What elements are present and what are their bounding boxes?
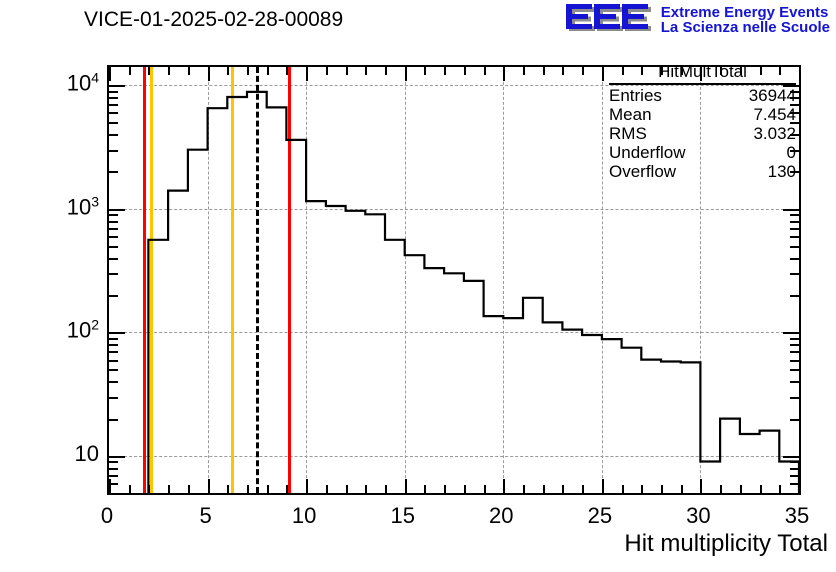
x-tick xyxy=(129,485,131,493)
x-tick-top xyxy=(247,67,249,75)
x-tick xyxy=(306,479,308,493)
x-tick-top xyxy=(444,67,446,75)
x-tick xyxy=(503,479,505,493)
x-tick xyxy=(464,485,466,493)
x-tick xyxy=(523,485,525,493)
y-tick xyxy=(109,85,125,87)
y-tick xyxy=(109,351,118,353)
x-tick xyxy=(484,485,486,493)
stats-value: 0 xyxy=(787,143,796,162)
y-tick xyxy=(109,360,118,362)
x-tick xyxy=(405,479,407,493)
y-tick-right xyxy=(790,381,799,383)
y-tick xyxy=(109,397,118,399)
stats-value: 130 xyxy=(768,162,796,181)
x-tick-top xyxy=(365,67,367,75)
y-tick xyxy=(109,246,118,248)
y-tick-right xyxy=(790,493,799,495)
y-tick-label: 104 xyxy=(0,69,99,96)
y-tick-label: 103 xyxy=(0,193,99,220)
y-tick-right xyxy=(790,483,799,485)
x-tick xyxy=(641,485,643,493)
y-tick-label: 10 xyxy=(0,441,99,467)
stats-box: HitMultTotal Entries36944Mean7.454RMS3.0… xyxy=(603,62,802,181)
x-tick xyxy=(543,485,545,493)
stats-key: Overflow xyxy=(609,162,676,181)
y-tick-right xyxy=(790,397,799,399)
x-tick xyxy=(740,485,742,493)
y-tick-right xyxy=(790,228,799,230)
y-tick-right xyxy=(790,236,799,238)
y-tick-right xyxy=(790,419,799,421)
y-tick xyxy=(109,456,125,458)
y-tick xyxy=(109,214,118,216)
eee-logo: Extreme Energy Events La Scienza nelle S… xyxy=(565,3,830,37)
y-tick-right xyxy=(790,369,799,371)
x-tick-top xyxy=(148,67,150,75)
y-tick-right xyxy=(783,456,799,458)
x-tick xyxy=(720,485,722,493)
stats-row: Overflow130 xyxy=(603,162,802,181)
y-tick xyxy=(109,104,118,106)
y-tick xyxy=(109,150,118,152)
eee-logo-text: Extreme Energy Events La Scienza nelle S… xyxy=(661,5,830,36)
stats-value: 3.032 xyxy=(753,124,796,143)
y-tick-right xyxy=(790,360,799,362)
x-tick xyxy=(148,485,150,493)
y-tick xyxy=(109,332,125,334)
y-tick-right xyxy=(783,332,799,334)
x-tick xyxy=(267,485,269,493)
x-tick-top xyxy=(385,67,387,75)
page-title: VICE-01-2025-02-28-00089 xyxy=(84,8,343,32)
y-tick xyxy=(109,134,118,136)
y-tick xyxy=(109,258,118,260)
stats-title: HitMultTotal xyxy=(609,62,796,85)
x-tick-top xyxy=(286,67,288,75)
x-tick-top xyxy=(484,67,486,75)
x-tick-top xyxy=(562,67,564,75)
x-tick-label: 30 xyxy=(686,503,710,529)
y-tick-right xyxy=(790,344,799,346)
y-tick-right xyxy=(790,475,799,477)
x-tick xyxy=(109,479,111,493)
x-tick xyxy=(799,479,801,493)
x-tick-top xyxy=(129,67,131,75)
y-tick xyxy=(109,338,118,340)
y-tick xyxy=(109,344,118,346)
stats-key: Mean xyxy=(609,105,652,124)
y-tick xyxy=(109,122,118,124)
y-tick xyxy=(109,209,125,211)
x-tick xyxy=(681,485,683,493)
eee-mark-icon xyxy=(565,3,655,37)
x-tick-top xyxy=(306,67,308,81)
x-tick xyxy=(286,485,288,493)
y-tick xyxy=(109,112,118,114)
y-tick xyxy=(109,273,118,275)
y-tick xyxy=(109,91,118,93)
x-tick-label: 15 xyxy=(390,503,414,529)
stats-value: 36944 xyxy=(749,86,796,105)
y-tick xyxy=(109,381,118,383)
x-tick-top xyxy=(503,67,505,81)
y-tick-right xyxy=(790,338,799,340)
x-tick-label: 5 xyxy=(199,503,211,529)
stats-rows: Entries36944Mean7.454RMS3.032Underflow0O… xyxy=(603,86,802,181)
stats-row: Underflow0 xyxy=(603,143,802,162)
x-tick xyxy=(365,485,367,493)
x-tick-top xyxy=(208,67,210,81)
x-tick-top xyxy=(109,67,111,81)
y-tick-right xyxy=(790,351,799,353)
y-tick-right xyxy=(790,295,799,297)
x-tick xyxy=(602,479,604,493)
x-tick xyxy=(760,485,762,493)
x-tick xyxy=(208,479,210,493)
y-tick xyxy=(109,295,118,297)
x-tick-top xyxy=(346,67,348,75)
x-tick xyxy=(444,485,446,493)
x-tick-top xyxy=(543,67,545,75)
y-tick-right xyxy=(790,221,799,223)
stats-row: Entries36944 xyxy=(603,86,802,105)
x-tick-top xyxy=(582,67,584,75)
x-tick xyxy=(385,485,387,493)
stats-row: Mean7.454 xyxy=(603,105,802,124)
x-tick xyxy=(326,485,328,493)
y-tick xyxy=(109,419,118,421)
histogram-canvas: VICE-01-2025-02-28-00089 xyxy=(0,0,836,572)
y-tick-right xyxy=(790,461,799,463)
stats-row: RMS3.032 xyxy=(603,124,802,143)
x-tick xyxy=(227,485,229,493)
stats-key: RMS xyxy=(609,124,647,143)
x-tick-top xyxy=(405,67,407,81)
y-tick xyxy=(109,97,118,99)
x-tick xyxy=(779,485,781,493)
y-tick-right xyxy=(790,214,799,216)
x-tick xyxy=(622,485,624,493)
x-tick xyxy=(168,485,170,493)
y-tick xyxy=(109,221,118,223)
x-tick-top xyxy=(267,67,269,75)
y-tick xyxy=(109,468,118,470)
x-tick-top xyxy=(227,67,229,75)
y-tick xyxy=(109,493,118,495)
y-tick-label: 102 xyxy=(0,317,99,344)
stats-key: Entries xyxy=(609,86,662,105)
x-tick-top xyxy=(424,67,426,75)
y-tick xyxy=(109,475,118,477)
x-tick-top xyxy=(188,67,190,75)
x-tick xyxy=(346,485,348,493)
y-tick-right xyxy=(790,468,799,470)
y-tick xyxy=(109,236,118,238)
stats-key: Underflow xyxy=(609,143,686,162)
x-tick-label: 35 xyxy=(785,503,809,529)
y-tick xyxy=(109,228,118,230)
y-tick xyxy=(109,461,118,463)
x-tick-label: 25 xyxy=(588,503,612,529)
x-tick-top xyxy=(326,67,328,75)
x-tick xyxy=(582,485,584,493)
x-tick-top xyxy=(168,67,170,75)
x-tick xyxy=(700,479,702,493)
x-tick-label: 10 xyxy=(292,503,316,529)
x-tick xyxy=(562,485,564,493)
eee-logo-line2: La Scienza nelle Scuole xyxy=(661,20,830,35)
x-tick-label: 0 xyxy=(101,503,113,529)
x-tick xyxy=(424,485,426,493)
y-tick xyxy=(109,369,118,371)
stats-value: 7.454 xyxy=(753,105,796,124)
y-tick-right xyxy=(790,246,799,248)
y-tick-right xyxy=(783,209,799,211)
x-tick xyxy=(247,485,249,493)
x-tick-label: 20 xyxy=(489,503,513,529)
y-tick-right xyxy=(790,258,799,260)
x-tick xyxy=(188,485,190,493)
eee-logo-line1: Extreme Energy Events xyxy=(661,5,830,20)
x-tick-top xyxy=(464,67,466,75)
y-tick xyxy=(109,483,118,485)
x-axis-title: Hit multiplicity Total xyxy=(624,530,828,558)
y-tick xyxy=(109,171,118,173)
y-tick-right xyxy=(790,273,799,275)
x-tick-top xyxy=(523,67,525,75)
x-tick xyxy=(661,485,663,493)
